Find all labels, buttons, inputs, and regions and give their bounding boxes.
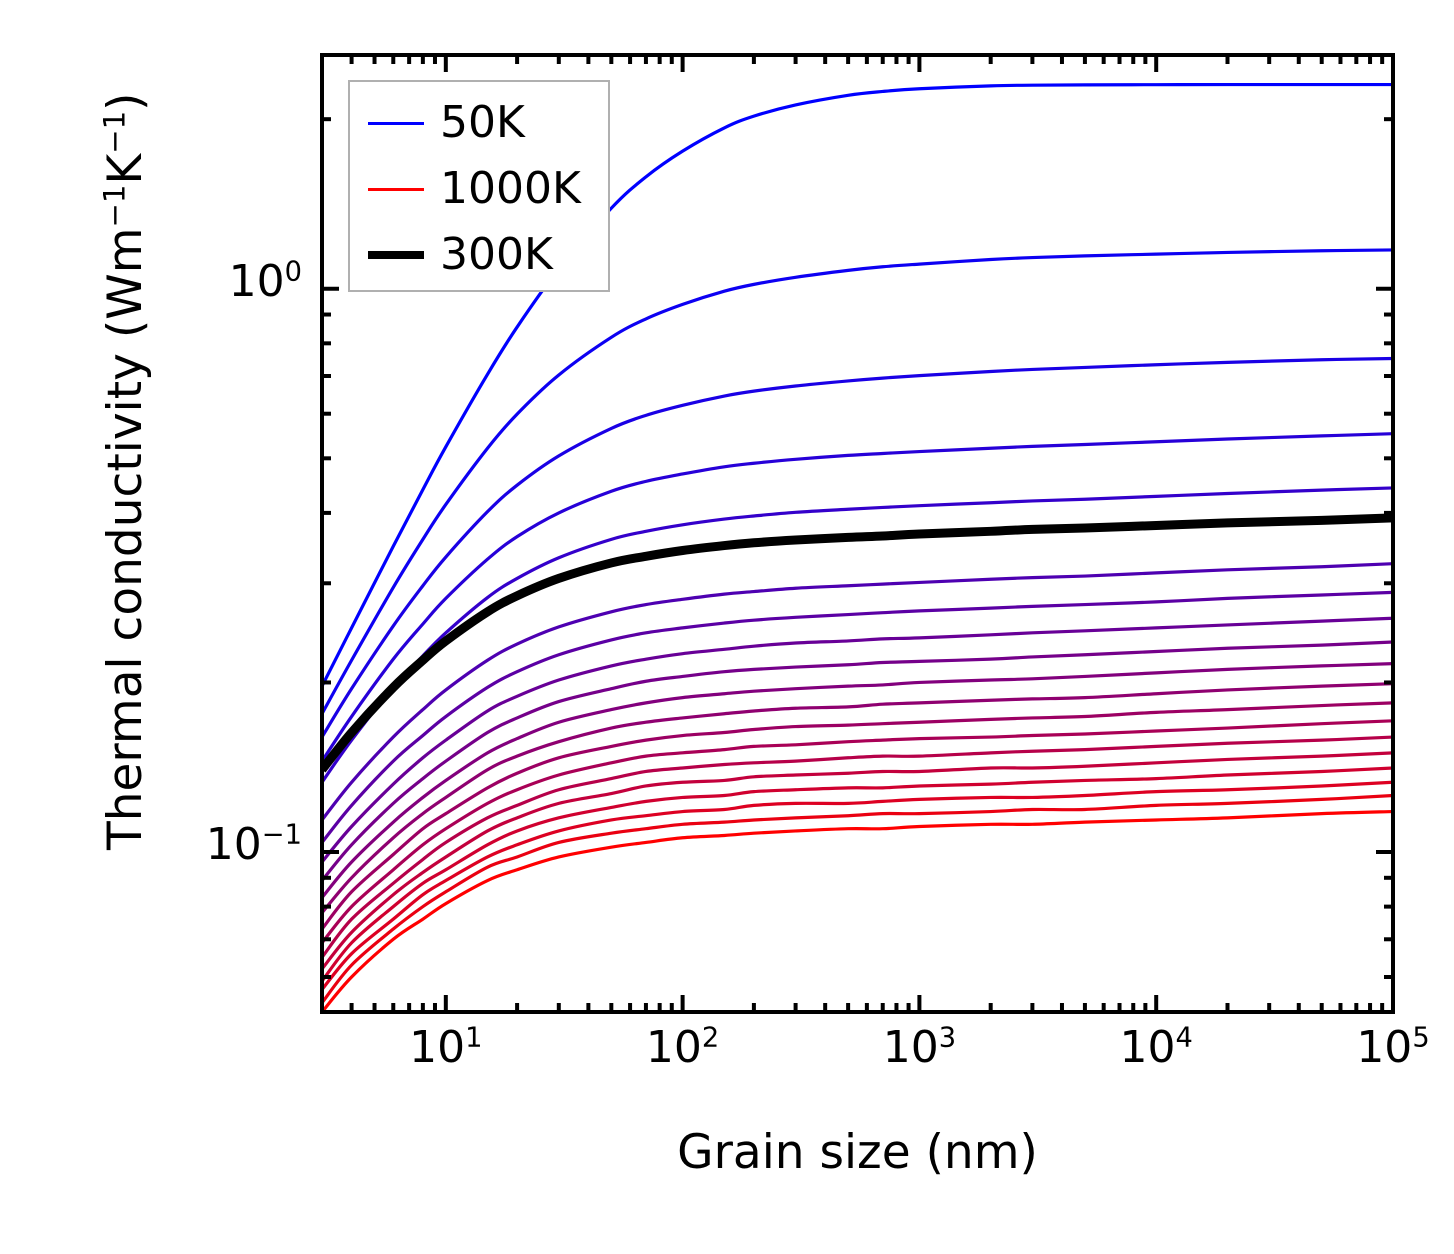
x-tick-label-4: 105: [1318, 1022, 1454, 1073]
curve-600K: [322, 684, 1393, 913]
y-axis-label-sup1: −1: [97, 185, 131, 228]
x-tick-label-0: 101: [371, 1022, 521, 1073]
curve-300K: [322, 518, 1393, 770]
curve-950K: [322, 795, 1393, 1002]
curve-850K: [322, 768, 1393, 981]
curve-500K: [322, 642, 1393, 881]
legend-swatch-0: [368, 122, 424, 125]
y-axis-label-pre: Thermal conductivity (Wm: [98, 228, 153, 850]
legend-entry-2: 300K: [350, 220, 608, 290]
legend-entry-0: 50K: [350, 88, 608, 158]
curve-250K: [322, 488, 1393, 782]
legend-swatch-1: [368, 188, 424, 191]
x-axis-label: Grain size (nm): [677, 1125, 1038, 1180]
y-axis-label-post: ): [98, 92, 153, 110]
legend-label-0: 50K: [440, 101, 525, 145]
curve-1000K: [322, 812, 1393, 1012]
legend-label-2: 300K: [440, 233, 553, 277]
legend: 50K 1000K 300K: [348, 80, 610, 292]
curve-100K: [322, 250, 1393, 714]
x-tick-label-2: 103: [844, 1022, 994, 1073]
x-tick-label-3: 104: [1081, 1022, 1231, 1073]
curve-900K: [322, 782, 1393, 989]
figure-canvas: Thermal conductivity (Wm−1K−1) Grain siz…: [0, 0, 1454, 1254]
y-tick-label-1: 10−1: [117, 819, 302, 870]
y-axis-label-mid: K: [98, 154, 153, 185]
curve-550K: [322, 664, 1393, 898]
y-tick-label-0: 100: [117, 256, 302, 307]
x-axis-label-wrap: Grain size (nm): [322, 1125, 1393, 1180]
legend-entry-1: 1000K: [350, 154, 608, 224]
legend-swatch-2: [368, 251, 424, 259]
x-tick-label-1: 102: [608, 1022, 758, 1073]
legend-label-1: 1000K: [440, 167, 581, 211]
curve-150K: [322, 358, 1393, 737]
y-axis-label-sup2: −1: [97, 111, 131, 154]
